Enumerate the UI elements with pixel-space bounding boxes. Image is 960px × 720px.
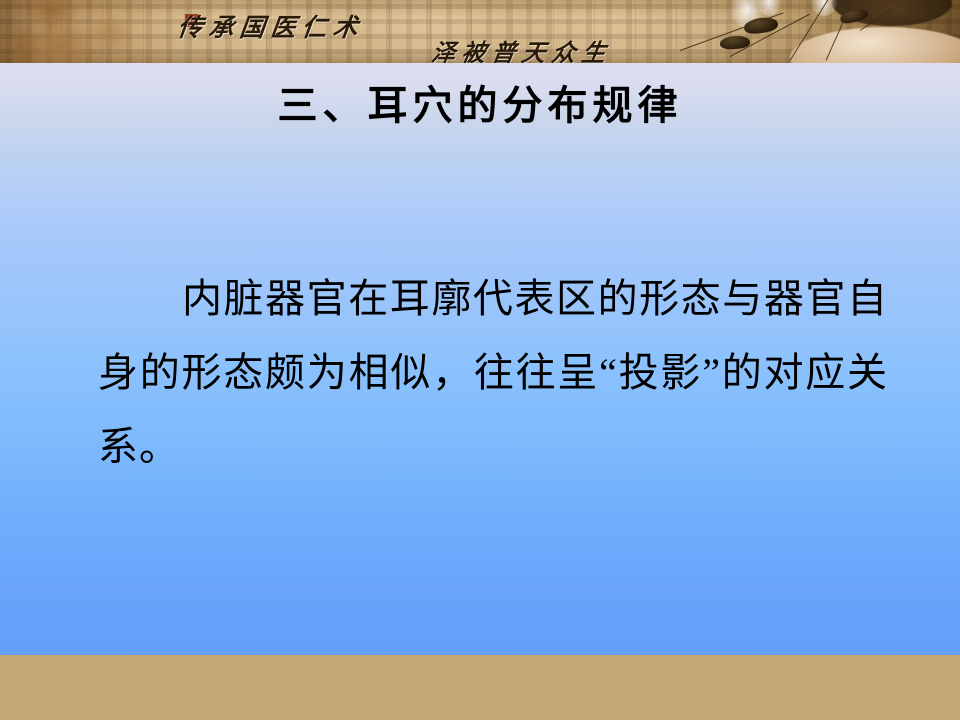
presentation-slide: 传承国医仁术 泽被普天众生 三、耳穴的分布规律 内脏器官在耳廓代表区的形态与器官…	[0, 0, 960, 720]
banner-calligraphy-line-1: 传承国医仁术	[176, 8, 366, 44]
slide-title: 三、耳穴的分布规律	[0, 82, 960, 130]
slide-body: 内脏器官在耳廓代表区的形态与器官自身的形态颇为相似，往往呈“投影”的对应关系。	[98, 262, 888, 484]
smoke-plume-icon	[810, 0, 838, 16]
header-banner: 传承国医仁术 泽被普天众生	[0, 0, 960, 63]
body-paragraph: 内脏器官在耳廓代表区的形态与器官自身的形态颇为相似，往往呈“投影”的对应关系。	[98, 262, 888, 484]
moxibustion-photo	[660, 0, 960, 63]
patient-back-image	[790, 27, 960, 63]
physician-statue-image	[6, 0, 156, 63]
footer-bar	[0, 655, 960, 720]
banner-calligraphy-line-2: 泽被普天众生	[429, 33, 615, 63]
